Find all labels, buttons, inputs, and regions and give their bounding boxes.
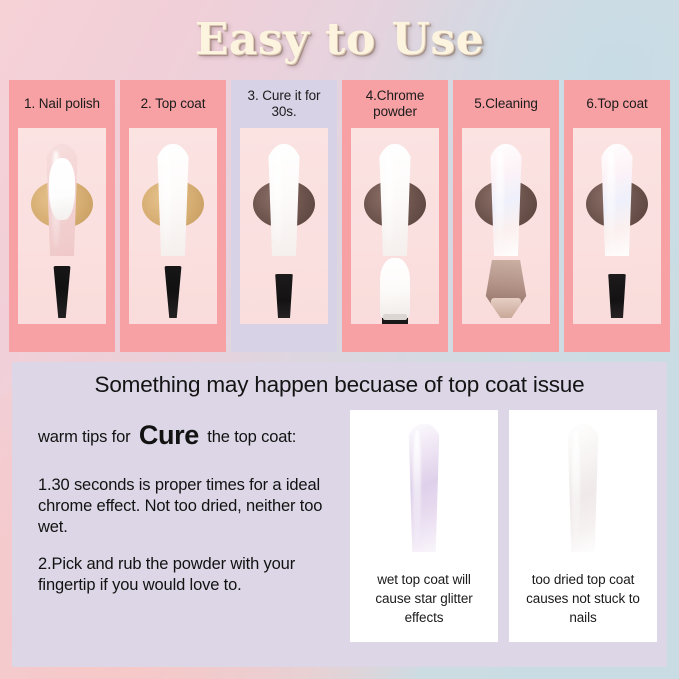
result-caption-dried: too dried top coat causes not stuck to n… bbox=[509, 568, 657, 642]
result-card-wet: wet top coat will cause star glitter eff… bbox=[350, 410, 498, 642]
step-photo-5 bbox=[462, 128, 550, 324]
tips-column: warm tips for Cure the top coat: 1.30 se… bbox=[12, 410, 344, 667]
nail-tip-icon bbox=[486, 144, 526, 256]
tips-lead-highlight: Cure bbox=[135, 420, 203, 450]
nail-tip-icon bbox=[375, 144, 415, 256]
step-label-2: 2. Top coat bbox=[120, 80, 226, 126]
step-card-4: 4.Chrome powder bbox=[342, 80, 448, 352]
panel-body: warm tips for Cure the top coat: 1.30 se… bbox=[12, 410, 667, 667]
nail-tip-icon bbox=[597, 144, 637, 256]
tips-lead-after: the top coat: bbox=[207, 428, 296, 446]
infographic-root: Easy to Use 1. Nail polish 2. Top coat 3… bbox=[0, 0, 679, 679]
step-card-5: 5.Cleaning bbox=[453, 80, 559, 352]
step-photo-6 bbox=[573, 128, 661, 324]
step-label-1: 1. Nail polish bbox=[9, 80, 115, 126]
panel-heading: Something may happen becuase of top coat… bbox=[12, 362, 667, 400]
nail-tip-icon bbox=[264, 144, 304, 256]
step-photo-2 bbox=[129, 128, 217, 324]
step-label-4: 4.Chrome powder bbox=[342, 80, 448, 126]
result-photo-dried bbox=[509, 410, 657, 568]
tip-item-1: 1.30 seconds is proper times for a ideal… bbox=[38, 475, 328, 538]
result-caption-wet: wet top coat will cause star glitter eff… bbox=[350, 568, 498, 642]
tip-item-2: 2.Pick and rub the powder with your fing… bbox=[38, 554, 328, 596]
nail-tip-icon bbox=[403, 424, 445, 552]
results-column: wet top coat will cause star glitter eff… bbox=[344, 410, 667, 667]
top-coat-brush-icon bbox=[165, 266, 182, 318]
step-card-3: 3. Cure it for 30s. bbox=[231, 80, 337, 352]
step-photo-1 bbox=[18, 128, 106, 324]
result-photo-wet bbox=[350, 410, 498, 568]
cleaning-fan-brush-icon bbox=[484, 260, 528, 318]
tips-lead: warm tips for Cure the top coat: bbox=[38, 418, 328, 453]
chrome-powder-applicator-icon bbox=[380, 258, 410, 318]
page-title: Easy to Use bbox=[195, 14, 484, 65]
title-banner: Easy to Use bbox=[0, 0, 679, 78]
step-label-5: 5.Cleaning bbox=[453, 80, 559, 126]
step-label-6: 6.Top coat bbox=[564, 80, 670, 126]
step-photo-4 bbox=[351, 128, 439, 324]
step-card-6: 6.Top coat bbox=[564, 80, 670, 352]
nail-tip-icon bbox=[562, 424, 604, 552]
step-photo-3 bbox=[240, 128, 328, 324]
result-card-dried: too dried top coat causes not stuck to n… bbox=[509, 410, 657, 642]
white-polish-blob-icon bbox=[49, 158, 75, 220]
tips-panel: Something may happen becuase of top coat… bbox=[12, 362, 667, 667]
tips-lead-before: warm tips for bbox=[38, 428, 130, 446]
step-card-1: 1. Nail polish bbox=[9, 80, 115, 352]
nail-tip-icon bbox=[153, 144, 193, 256]
step-label-3: 3. Cure it for 30s. bbox=[231, 80, 337, 126]
final-top-coat-brush-icon bbox=[607, 274, 627, 318]
cure-lamp-brush-icon bbox=[274, 274, 294, 318]
polish-brush-icon bbox=[54, 266, 71, 318]
step-card-2: 2. Top coat bbox=[120, 80, 226, 352]
steps-strip: 1. Nail polish 2. Top coat 3. Cure it fo… bbox=[9, 80, 670, 352]
